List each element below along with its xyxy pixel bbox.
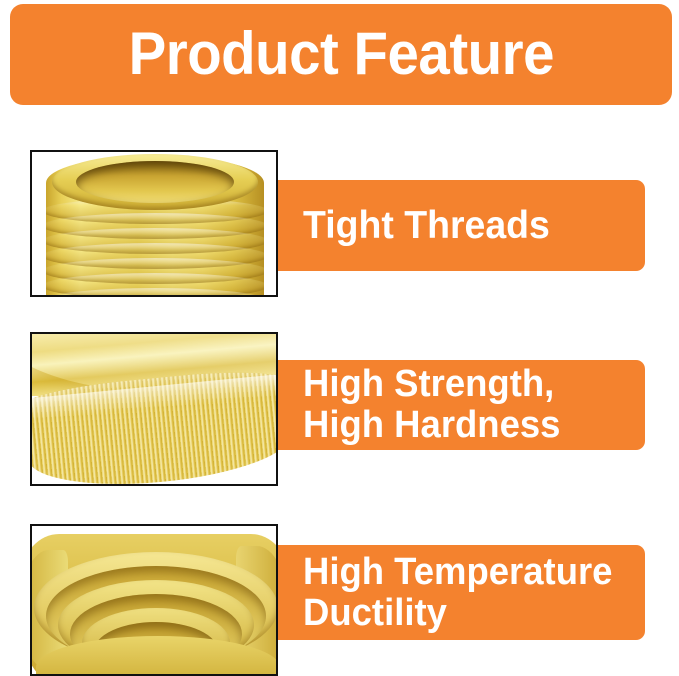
- feature-label-text-3: High Temperature Ductility: [303, 552, 612, 634]
- thread-bore-opening: [76, 161, 234, 203]
- feature-image-frame-2: [30, 332, 278, 486]
- feature-row-3: High Temperature Ductility: [0, 524, 679, 676]
- feature-label-chip-1: Tight Threads: [278, 180, 645, 271]
- feature-row-1: Tight Threads: [0, 150, 679, 300]
- page-header-banner: Product Feature: [10, 4, 672, 105]
- page-title: Product Feature: [128, 24, 553, 84]
- feature-label-chip-3: High Temperature Ductility: [278, 545, 645, 640]
- feature-label-text-1: Tight Threads: [303, 205, 550, 247]
- feature-label-chip-2: High Strength, High Hardness: [278, 360, 645, 450]
- brass-male-threaded-fitting-image: [32, 152, 276, 295]
- thread-ridges-group: [46, 198, 264, 297]
- feature-image-frame-1: [30, 150, 278, 297]
- feature-row-2: High Strength, High Hardness: [0, 332, 679, 487]
- feature-image-frame-3: [30, 524, 278, 676]
- brass-female-internal-threads-image: [32, 526, 276, 674]
- feature-label-text-2: High Strength, High Hardness: [303, 364, 560, 446]
- brass-knurled-hex-edge-image: [32, 334, 276, 484]
